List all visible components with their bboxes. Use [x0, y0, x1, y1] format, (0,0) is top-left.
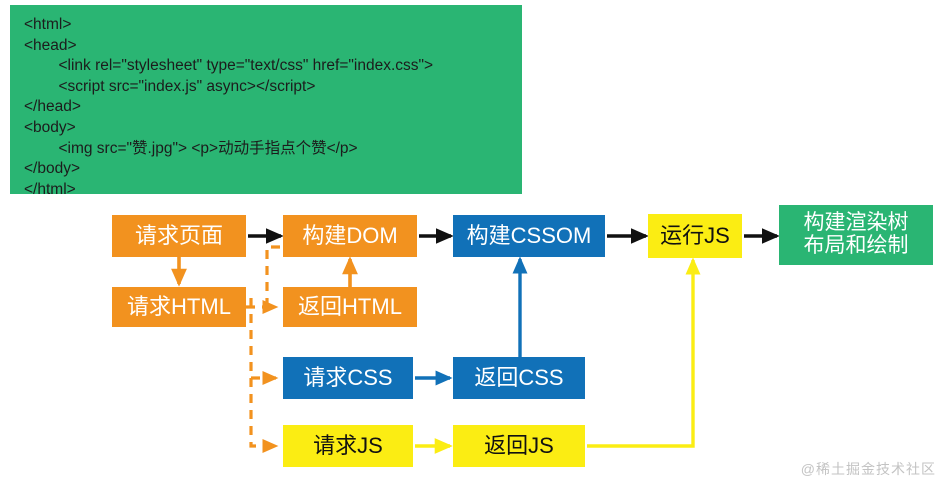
node-request-html[interactable]: 请求HTML — [112, 287, 246, 327]
critical-rendering-path-diagram: 请求页面 构建DOM 构建CSSOM 运行JS 构建渲染树 布局和绘制 请求HT… — [0, 0, 948, 489]
edge-request-html-to-request-css — [251, 298, 276, 378]
edge-dashed-riser-to-build-dom — [267, 247, 281, 307]
node-return-css[interactable]: 返回CSS — [453, 357, 585, 399]
node-request-css[interactable]: 请求CSS — [283, 357, 413, 399]
node-render-tree[interactable]: 构建渲染树 布局和绘制 — [779, 205, 933, 265]
edge-request-html-to-request-js — [251, 378, 276, 446]
watermark: @稀土掘金技术社区 — [801, 459, 936, 479]
node-request-page[interactable]: 请求页面 — [112, 215, 246, 257]
node-return-js[interactable]: 返回JS — [453, 425, 585, 467]
edge-return-js-to-run-js — [587, 260, 693, 446]
node-run-js[interactable]: 运行JS — [648, 214, 742, 258]
node-return-html[interactable]: 返回HTML — [283, 287, 417, 327]
node-build-dom[interactable]: 构建DOM — [283, 215, 417, 257]
node-build-cssom[interactable]: 构建CSSOM — [453, 215, 605, 257]
node-request-js[interactable]: 请求JS — [283, 425, 413, 467]
